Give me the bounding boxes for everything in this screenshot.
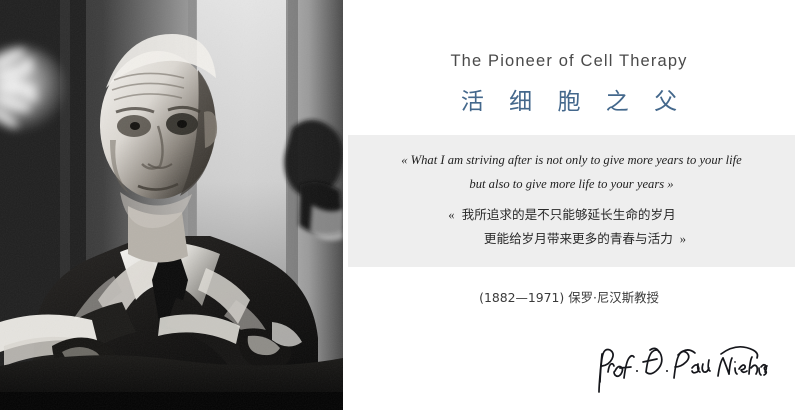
signature — [588, 338, 773, 396]
page-title-english: The Pioneer of Cell Therapy — [343, 52, 795, 71]
quote-chinese-line-1-wrap: «我所追求的是不只能够延长生命的岁月 — [348, 203, 795, 227]
handwritten-signature-icon — [588, 338, 773, 396]
content-column: The Pioneer of Cell Therapy 活 细 胞 之 父 « … — [343, 0, 795, 410]
quote-english-line-2: but also to give more life to your years… — [469, 177, 673, 191]
open-guillemet-icon: « — [441, 208, 461, 222]
quote-chinese: «我所追求的是不只能够延长生命的岁月 更能给岁月带来更多的青春与活力» — [348, 203, 795, 251]
quote-chinese-line-2-wrap: 更能给岁月带来更多的青春与活力» — [348, 227, 795, 251]
poster-root: The Pioneer of Cell Therapy 活 细 胞 之 父 « … — [0, 0, 795, 410]
quote-english-line-1: « What I am striving after is not only t… — [401, 153, 742, 167]
attribution-line: (1882—1971) 保罗·尼汉斯教授 — [343, 288, 795, 306]
portrait-photo — [0, 0, 343, 410]
page-title-chinese: 活 细 胞 之 父 — [343, 82, 795, 116]
portrait-illustration — [0, 0, 343, 410]
quote-panel: « What I am striving after is not only t… — [348, 135, 795, 267]
close-guillemet-icon: » — [673, 232, 693, 246]
quote-chinese-line-1: 我所追求的是不只能够延长生命的岁月 — [462, 207, 676, 222]
quote-chinese-line-2: 更能给岁月带来更多的青春与活力 — [484, 231, 673, 246]
quote-english: « What I am striving after is not only t… — [348, 148, 795, 196]
